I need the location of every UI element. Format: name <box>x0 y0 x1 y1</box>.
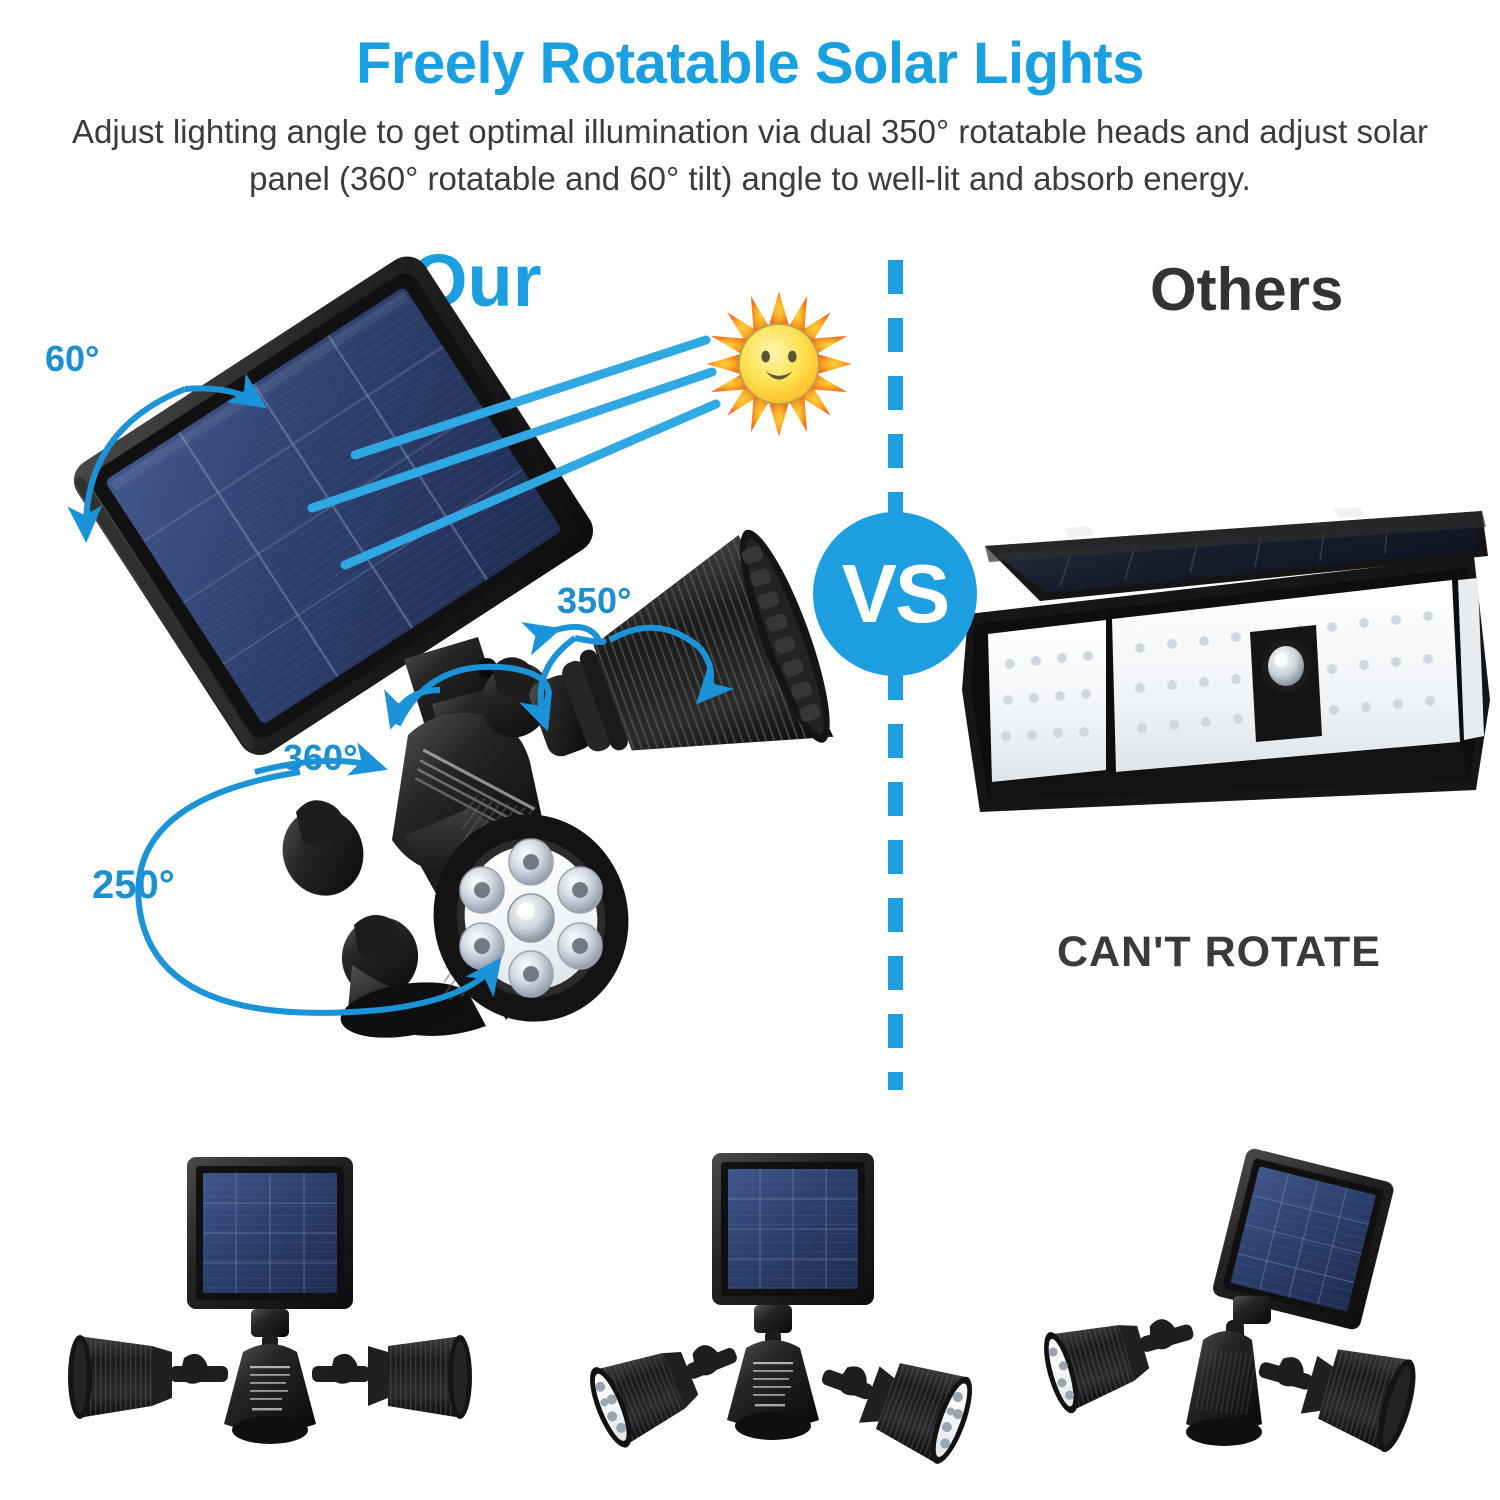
gallery1-left-head <box>68 1335 228 1419</box>
others-led-panel <box>988 578 1484 800</box>
gallery1-right-head <box>312 1335 472 1419</box>
led-face <box>412 794 651 1043</box>
product-artwork-layer <box>0 0 1500 1500</box>
gallery-item-3 <box>1037 1147 1423 1456</box>
infographic-page: Freely Rotatable Solar Lights Adjust lig… <box>0 0 1500 1500</box>
lower-light-head <box>359 771 650 1055</box>
pivot-body <box>271 652 561 1046</box>
pir-sensor-icon <box>508 894 554 942</box>
gallery3-left-head <box>1037 1294 1205 1416</box>
upper-head-collar <box>521 647 631 773</box>
gallery2-right-head <box>808 1330 980 1468</box>
gallery-item-1 <box>68 1157 472 1444</box>
page-title: Freely Rotatable Solar Lights <box>0 30 1500 97</box>
adjust-knob-left <box>271 798 374 906</box>
gallery3-right-head <box>1247 1320 1423 1455</box>
sun-icon <box>705 290 853 438</box>
solar-panel <box>65 248 601 763</box>
swivel-arc-250 <box>138 772 498 1013</box>
led-ring <box>460 839 602 997</box>
panel-neck <box>404 637 512 760</box>
tilt-arc-60 <box>86 388 262 537</box>
vs-badge: VS <box>813 512 977 676</box>
head-rotation-arc-350 <box>541 627 604 726</box>
angle-label-panel-rotation: 360° <box>283 737 357 779</box>
gallery-item-2 <box>582 1153 981 1468</box>
angle-label-head-swivel: 250° <box>92 863 175 908</box>
annotation-layer <box>0 0 1500 1500</box>
others-housing <box>962 556 1490 812</box>
others-product-illustration <box>962 507 1490 812</box>
others-pir-sensor-icon <box>1250 625 1322 742</box>
others-label: Others <box>1150 255 1343 324</box>
cant-rotate-caption: CAN'T ROTATE <box>1057 928 1381 977</box>
sun-rays <box>312 340 716 565</box>
mount-tab <box>1063 507 1365 537</box>
upper-light-head <box>501 522 846 832</box>
page-subtitle: Adjust lighting angle to get optimal ill… <box>40 108 1460 202</box>
adjust-knob-lower <box>335 910 426 1004</box>
upper-head-rotation-arc <box>610 628 711 700</box>
adjust-knob-upper <box>470 652 562 748</box>
gallery2-left-head <box>582 1317 753 1453</box>
others-solar-panel <box>985 507 1488 601</box>
our-label: Our <box>410 238 542 323</box>
angle-label-head-rotation: 350° <box>557 580 631 622</box>
angle-label-panel-tilt: 60° <box>45 338 99 380</box>
